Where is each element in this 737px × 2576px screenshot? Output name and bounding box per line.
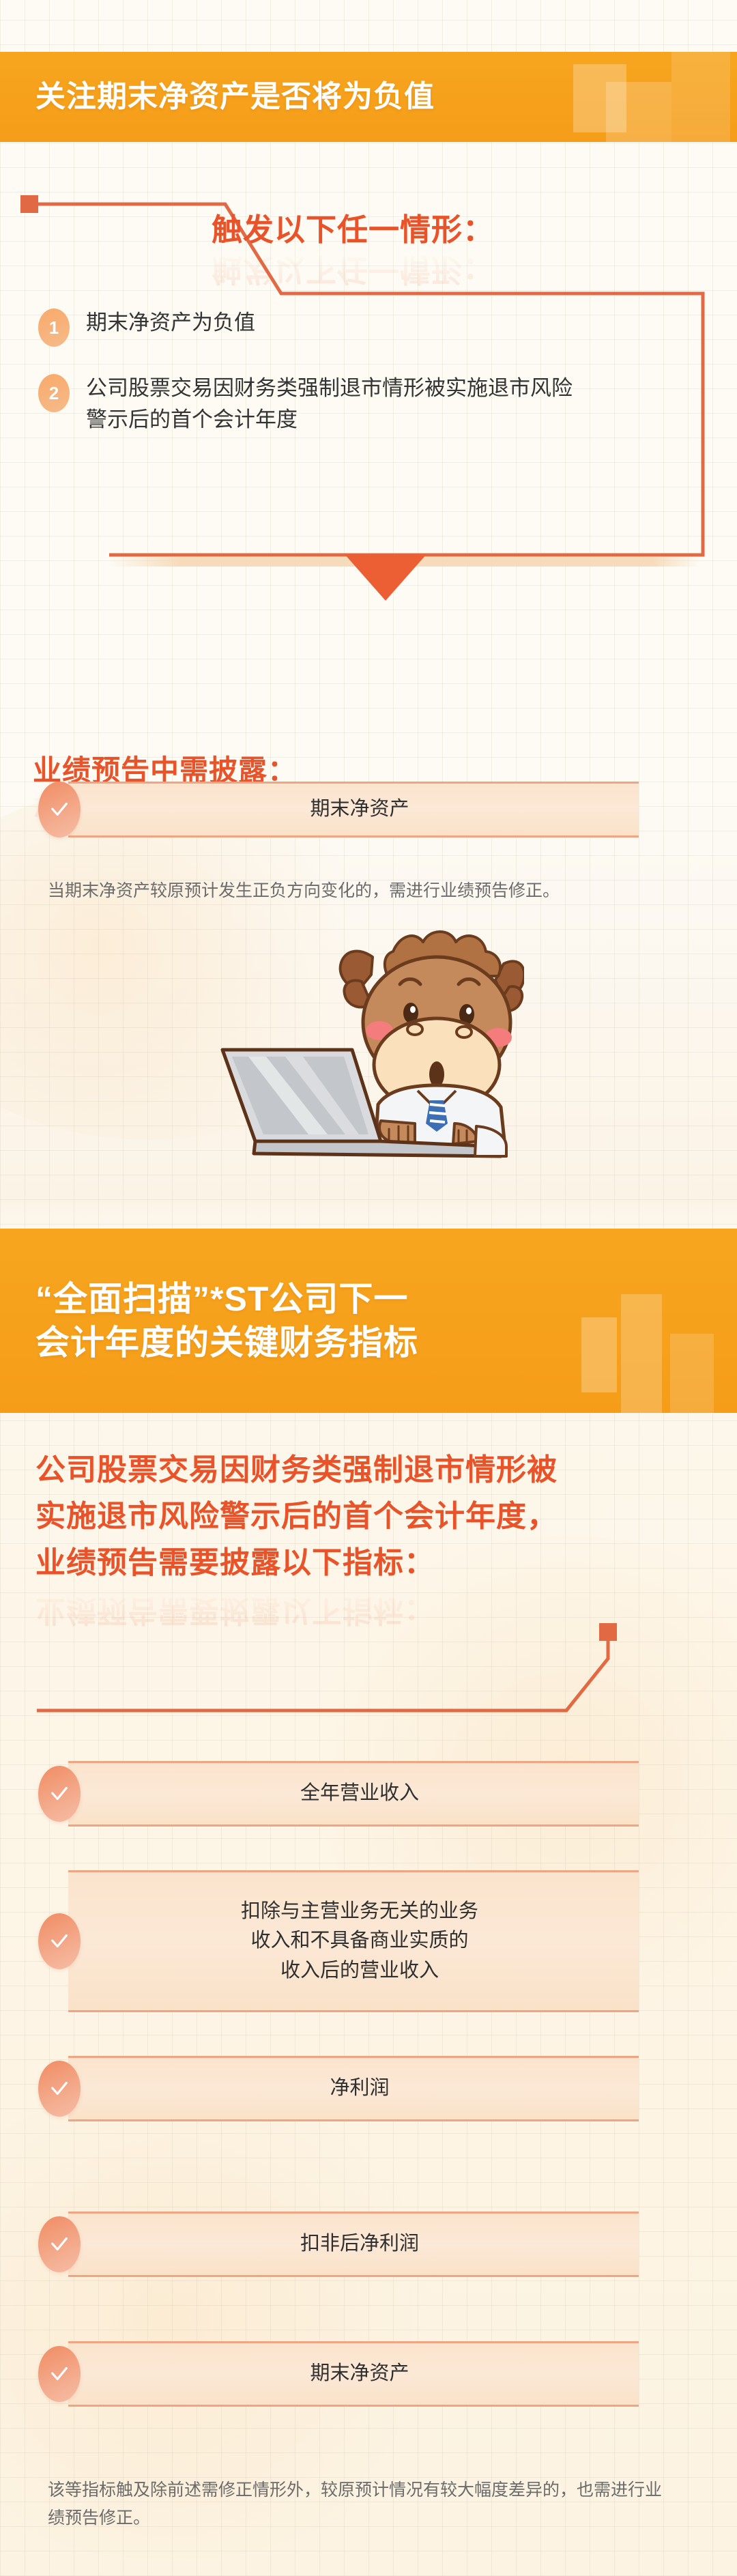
check-circle — [38, 782, 81, 838]
check-item-s2-4[interactable]: 期末净资产 — [38, 2341, 639, 2407]
check-icon — [49, 2234, 70, 2255]
check-item-label-line1: 扣除与主营业务无关的业务 — [241, 1897, 478, 1927]
section-2-title-line1: “全面扫描”*ST公司下一 — [35, 1277, 418, 1321]
list-item-label: 公司股票交易因财务类强制退市情形被实施退市风险警示后的首个会计年度 — [86, 373, 591, 435]
section-2-note: 该等指标触及除前述需修正情形外，较原预计情况有较大幅度差异的，也需进行业绩预告修… — [48, 2476, 676, 2532]
lead-line-2: 实施退市风险警示后的首个会计年度， — [35, 1493, 691, 1540]
check-item-s2-1[interactable]: 扣除与主营业务无关的业务 收入和不具备商业实质的 收入后的营业收入 — [38, 1870, 639, 2012]
bull-mascot-illustration — [183, 921, 524, 1194]
check-icon — [49, 2078, 70, 2099]
band2-decoration-bar-2 — [621, 1294, 662, 1413]
band-decoration-bar-3 — [671, 52, 730, 142]
bracket-bottom-shadow — [109, 557, 699, 567]
check-circle — [38, 2216, 81, 2272]
check-icon — [49, 2364, 70, 2384]
lead-line-3-reflection: 业绩预告需要披露以下指标： — [35, 1587, 691, 1633]
check-circle — [38, 2061, 81, 2117]
check-item-s1-0[interactable]: 期末净资产 — [38, 782, 639, 838]
check-item-label-line2: 收入和不具备商业实质的 — [241, 1926, 478, 1956]
trigger-heading-reflection: 触发以下任一情形： — [212, 251, 494, 295]
band2-decoration-bar-3 — [670, 1334, 714, 1413]
check-item-label: 扣除与主营业务无关的业务 收入和不具备商业实质的 收入后的营业收入 — [241, 1897, 478, 1986]
trigger-heading: 触发以下任一情形： 触发以下任一情形： — [212, 205, 494, 295]
check-item-label-line3: 收入后的营业收入 — [241, 1956, 478, 1986]
list-item: 1 期末净资产为负值 — [38, 307, 680, 347]
check-item-s2-3[interactable]: 扣非后净利润 — [38, 2212, 639, 2277]
lead-line-3: 业绩预告需要披露以下指标： — [35, 1540, 691, 1586]
check-circle — [38, 1913, 81, 1969]
check-icon — [49, 799, 70, 820]
lead-line-1: 公司股票交易因财务类强制退市情形被 — [35, 1447, 691, 1493]
band-decoration-bar-2 — [606, 82, 671, 142]
list-item-label: 期末净资产为负值 — [86, 307, 255, 339]
infographic-page: 关注期末净资产是否将为负值 触发以下任一情形： 触发以下任一情形： 1 期末净资… — [0, 0, 737, 2576]
check-icon — [49, 1784, 70, 1804]
check-icon — [49, 1931, 70, 1951]
list-number-badge: 1 — [38, 309, 70, 347]
check-box: 扣非后净利润 — [68, 2212, 639, 2277]
check-circle — [38, 2346, 81, 2402]
check-item-label: 全年营业收入 — [300, 1779, 419, 1809]
section-2-title: “全面扫描”*ST公司下一 会计年度的关键财务指标 — [0, 1277, 418, 1364]
check-item-label: 期末净资产 — [310, 2359, 409, 2389]
section-2-title-line2: 会计年度的关键财务指标 — [35, 1321, 418, 1364]
check-box: 扣除与主营业务无关的业务 收入和不具备商业实质的 收入后的营业收入 — [68, 1870, 639, 2012]
section-2-decorative-frame — [27, 1623, 717, 1732]
check-item-s2-0[interactable]: 全年营业收入 — [38, 1761, 639, 1827]
check-box: 全年营业收入 — [68, 1761, 639, 1827]
section-1-title: 关注期末净资产是否将为负值 — [0, 78, 435, 116]
section-1-header-band: 关注期末净资产是否将为负值 — [0, 52, 737, 142]
trigger-condition-list: 1 期末净资产为负值 2 公司股票交易因财务类强制退市情形被实施退市风险警示后的… — [38, 307, 680, 461]
check-box: 期末净资产 — [68, 2341, 639, 2407]
check-item-s2-2[interactable]: 净利润 — [38, 2056, 639, 2121]
list-number-badge: 2 — [38, 374, 70, 412]
band2-decoration-bar-1 — [581, 1317, 617, 1392]
list-item: 2 公司股票交易因财务类强制退市情形被实施退市风险警示后的首个会计年度 — [38, 373, 680, 435]
section-2-lead-paragraph: 公司股票交易因财务类强制退市情形被 实施退市风险警示后的首个会计年度， 业绩预告… — [35, 1447, 691, 1633]
section-1-note: 当期末净资产较原预计发生正负方向变化的，需进行业绩预告修正。 — [48, 877, 676, 905]
check-item-label: 期末净资产 — [310, 795, 409, 825]
check-item-label: 净利润 — [330, 2074, 389, 2104]
check-circle — [38, 1766, 81, 1822]
section-2-header-band: “全面扫描”*ST公司下一 会计年度的关键财务指标 — [0, 1229, 737, 1413]
check-box: 期末净资产 — [68, 782, 639, 838]
trigger-heading-text: 触发以下任一情形： — [212, 212, 494, 247]
check-box: 净利润 — [68, 2056, 639, 2121]
check-item-label: 扣非后净利润 — [300, 2229, 419, 2259]
